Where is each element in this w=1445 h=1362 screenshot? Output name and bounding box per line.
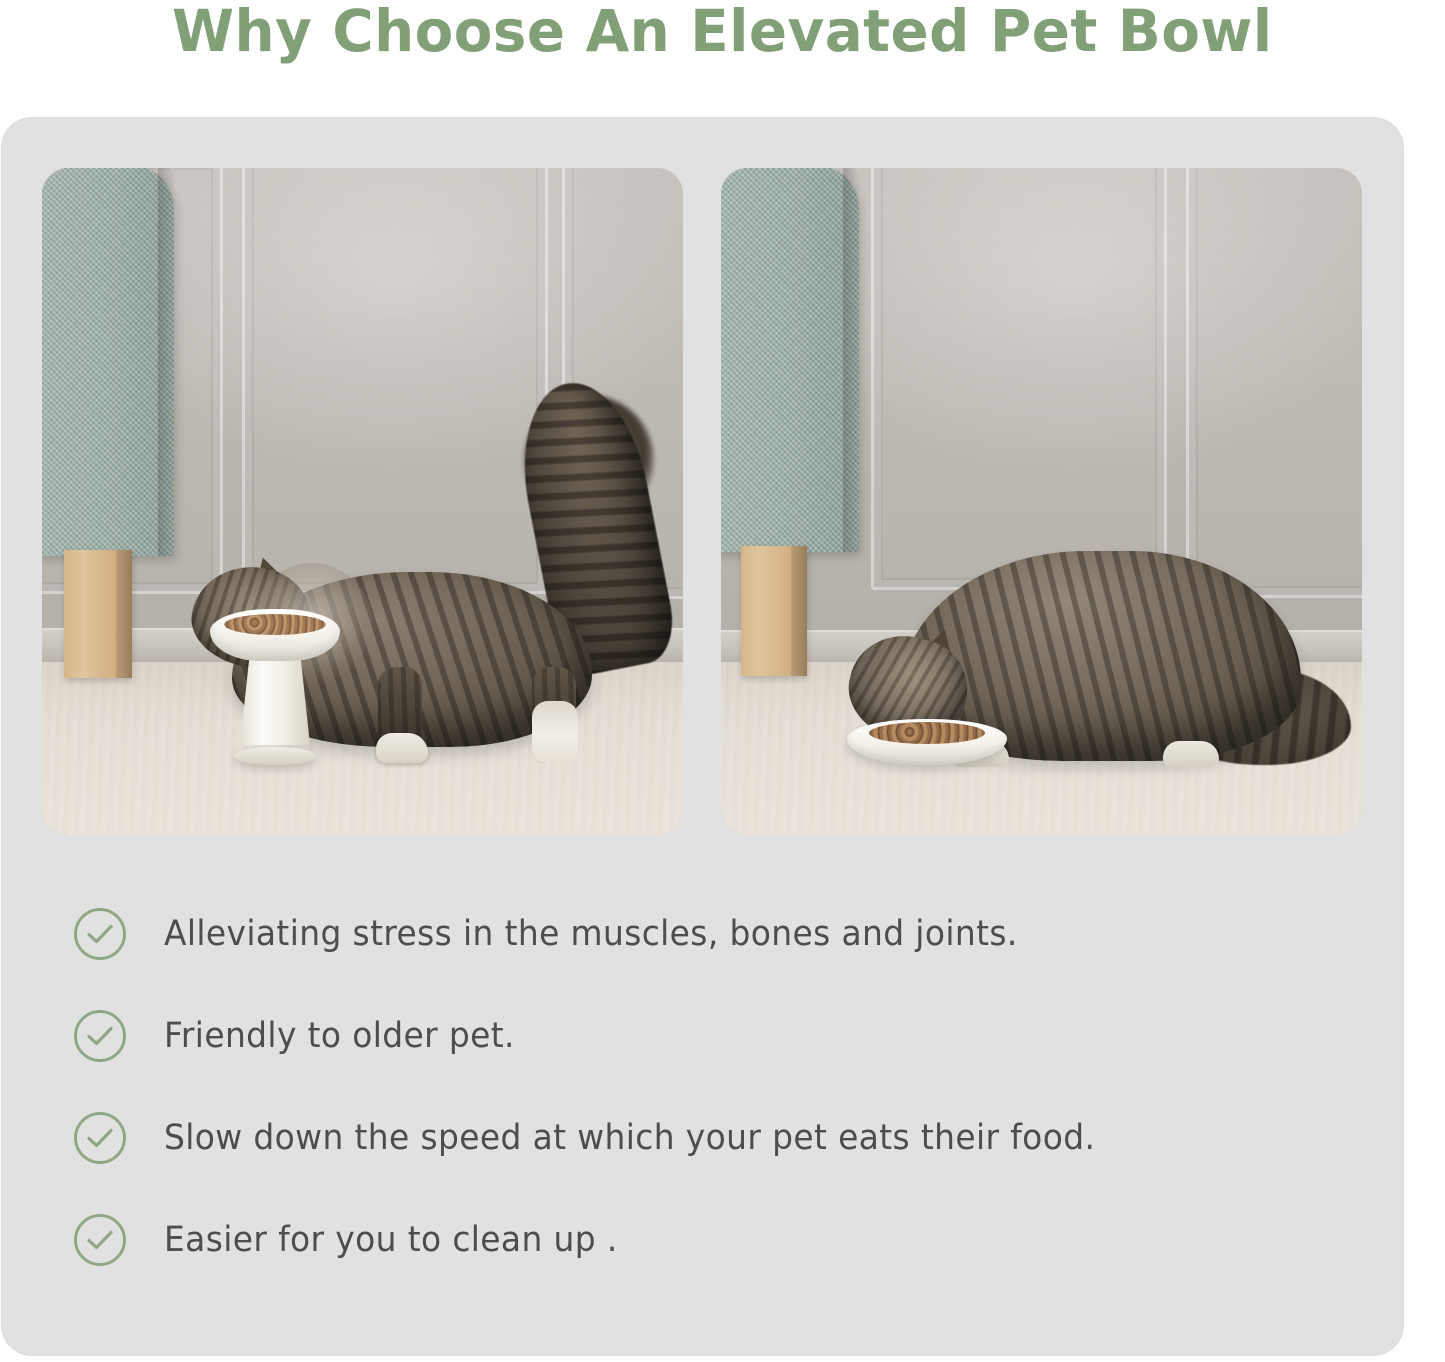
photo-flat-bowl <box>721 168 1362 835</box>
benefit-text: Alleviating stress in the muscles, bones… <box>164 914 1018 954</box>
comparison-photo-row <box>42 168 1362 835</box>
bowl-pedestal-stem <box>240 653 310 745</box>
benefit-text: Easier for you to clean up . <box>164 1220 618 1260</box>
benefit-item: Friendly to older pet. <box>72 985 1382 1087</box>
content-card: Alleviating stress in the muscles, bones… <box>2 118 1403 1355</box>
sofa-wooden-leg <box>741 546 807 676</box>
cat-hind-paw-sock <box>532 701 578 763</box>
check-circle-icon <box>72 906 128 962</box>
benefit-list: Alleviating stress in the muscles, bones… <box>72 883 1382 1291</box>
benefit-item: Slow down the speed at which your pet ea… <box>72 1087 1382 1189</box>
sofa-wooden-leg <box>64 550 132 678</box>
benefit-text: Friendly to older pet. <box>164 1016 515 1056</box>
pet-food <box>224 614 326 635</box>
sofa-arm <box>721 168 859 552</box>
benefit-item: Easier for you to clean up . <box>72 1189 1382 1291</box>
sofa-arm-shadow-edge <box>158 168 174 556</box>
sofa-arm <box>42 168 174 556</box>
check-circle-icon <box>72 1008 128 1064</box>
benefit-text: Slow down the speed at which your pet ea… <box>164 1118 1095 1158</box>
check-circle-icon <box>72 1212 128 1268</box>
elevated-pet-bowl <box>210 609 340 759</box>
check-circle-icon <box>72 1110 128 1166</box>
page-header: Why Choose An Elevated Pet Bowl <box>0 0 1445 76</box>
page-title: Why Choose An Elevated Pet Bowl <box>172 0 1273 65</box>
photo-elevated-bowl <box>42 168 683 835</box>
bowl-base-foot <box>234 747 316 765</box>
flat-pet-bowl <box>847 709 1007 765</box>
pet-food <box>869 722 985 744</box>
cat-front-paw <box>376 733 428 763</box>
cat-hind-paw <box>1163 741 1219 767</box>
benefit-item: Alleviating stress in the muscles, bones… <box>72 883 1382 985</box>
